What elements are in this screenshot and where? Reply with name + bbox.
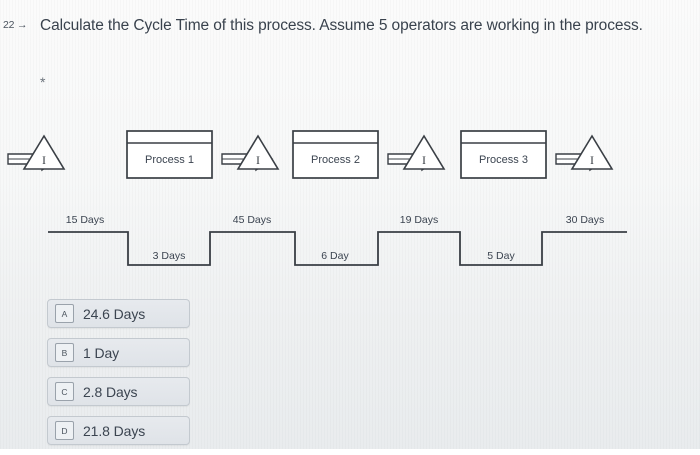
answer-option-a[interactable]: A 24.6 Days: [47, 299, 190, 328]
lead-time-label-2: 45 Days: [233, 214, 272, 226]
inventory-symbol-3: I: [388, 136, 444, 170]
option-letter-badge-a: A: [55, 304, 74, 323]
answer-options-list: A 24.6 Days B 1 Day C 2.8 Days D 21.8 Da…: [47, 299, 190, 455]
lead-time-label-3: 19 Days: [400, 214, 439, 226]
process-box-2: Process 2: [293, 131, 378, 178]
process-time-label-3: 5 Day: [487, 250, 515, 262]
vsm-svg: I Process 1 I Process 2 I: [0, 124, 700, 284]
option-label-b: 1 Day: [83, 345, 119, 361]
lead-time-label-1: 15 Days: [66, 214, 105, 226]
inventory-symbol-4: I: [556, 136, 612, 170]
answer-option-c[interactable]: C 2.8 Days: [47, 377, 190, 406]
process-time-label-2: 6 Day: [321, 250, 349, 262]
inventory-symbol-1: I: [8, 136, 64, 170]
inventory-letter: I: [590, 153, 594, 167]
option-letter-badge-c: C: [55, 382, 74, 401]
process-label-2: Process 2: [311, 154, 360, 166]
inventory-letter: I: [42, 153, 46, 167]
option-label-c: 2.8 Days: [83, 384, 137, 400]
option-letter-badge-d: D: [55, 421, 74, 440]
value-stream-map-diagram: I Process 1 I Process 2 I: [0, 124, 700, 284]
inventory-symbol-2: I: [222, 136, 278, 170]
answer-option-b[interactable]: B 1 Day: [47, 338, 190, 367]
process-label-3: Process 3: [479, 154, 528, 166]
process-box-1: Process 1: [127, 131, 212, 178]
option-label-a: 24.6 Days: [83, 306, 145, 322]
lead-time-label-4: 30 Days: [566, 214, 605, 226]
inventory-letter: I: [256, 153, 260, 167]
required-marker: *: [40, 74, 45, 90]
inventory-letter: I: [422, 153, 426, 167]
process-time-label-1: 3 Days: [153, 250, 186, 262]
option-letter-badge-b: B: [55, 343, 74, 362]
process-label-1: Process 1: [145, 154, 194, 166]
process-box-3: Process 3: [461, 131, 546, 178]
question-number: 22 →: [3, 19, 27, 31]
option-label-d: 21.8 Days: [83, 423, 145, 439]
question-text: Calculate the Cycle Time of this process…: [40, 14, 660, 37]
answer-option-d[interactable]: D 21.8 Days: [47, 416, 190, 445]
